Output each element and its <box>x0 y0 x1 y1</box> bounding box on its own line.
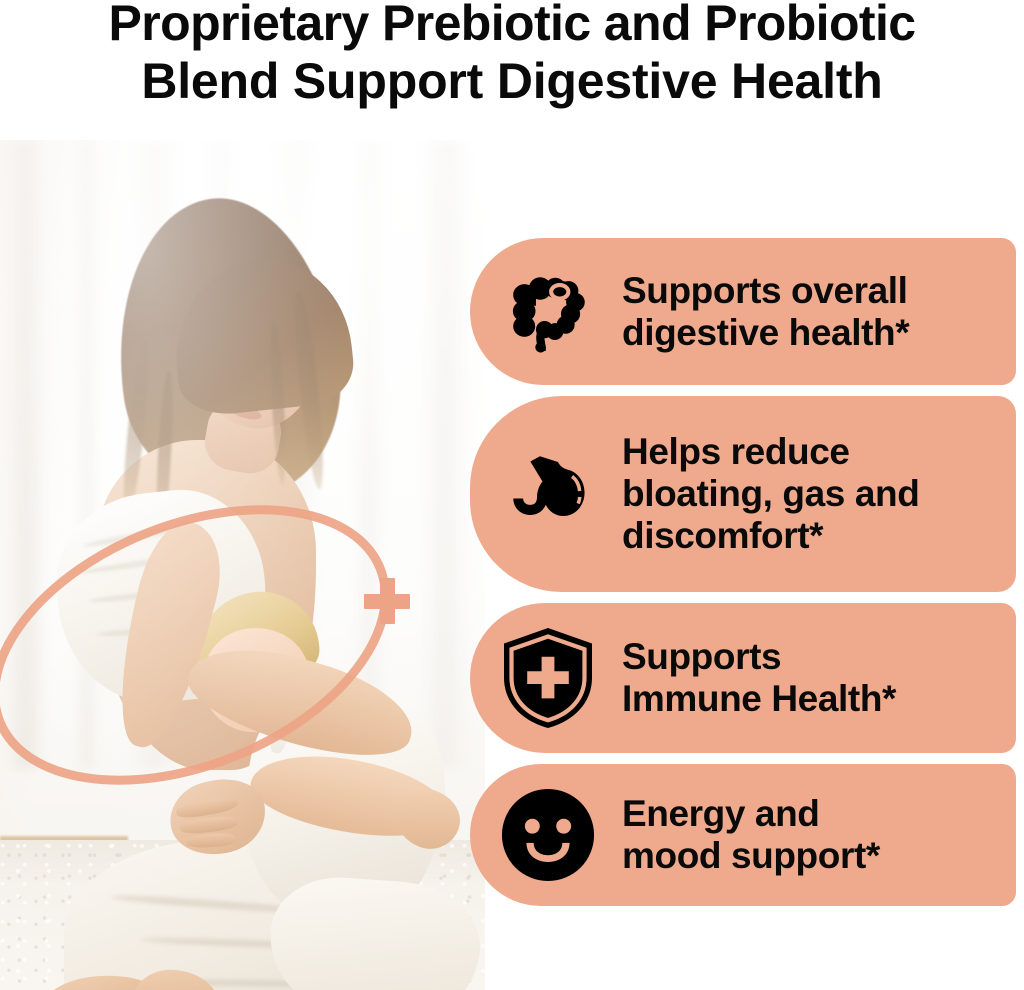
lifestyle-photo <box>0 140 485 990</box>
benefit-line-1: Helps reduce <box>622 431 850 472</box>
benefit-text-digestive: Supports overall digestive health* <box>600 270 1000 354</box>
product-infographic: Proprietary Prebiotic and Probiotic Blen… <box>0 0 1024 990</box>
benefit-line-1: Energy and <box>622 793 820 834</box>
benefit-card-immune[interactable]: Supports Immune Health* <box>470 603 1016 753</box>
intestine-icon <box>496 260 600 364</box>
benefit-line-1: Supports overall <box>622 270 908 311</box>
plus-sign-decoration <box>364 578 410 624</box>
plus-vertical-bar <box>380 578 395 624</box>
shield-plus-icon <box>496 626 600 730</box>
page-title: Proprietary Prebiotic and Probiotic Blen… <box>0 0 1024 110</box>
headline-line-2: Blend Support Digestive Health <box>0 52 1024 110</box>
benefit-card-digestive[interactable]: Supports overall digestive health* <box>470 238 1016 385</box>
benefit-line-2: Immune Health* <box>622 678 896 719</box>
benefit-text-mood: Energy and mood support* <box>600 793 1000 877</box>
benefit-card-bloating[interactable]: Helps reduce bloating, gas and discomfor… <box>470 396 1016 592</box>
benefit-line-2: mood support* <box>622 835 880 876</box>
benefits-list: Supports overall digestive health* Helps… <box>470 238 1016 917</box>
smiley-face-icon <box>496 783 600 887</box>
benefit-text-immune: Supports Immune Health* <box>600 636 1000 720</box>
benefit-text-bloating: Helps reduce bloating, gas and discomfor… <box>600 431 1000 556</box>
benefit-line-2: bloating, gas and <box>622 473 919 514</box>
stomach-icon <box>496 442 600 546</box>
headline-line-1: Proprietary Prebiotic and Probiotic <box>0 0 1024 52</box>
benefit-card-mood[interactable]: Energy and mood support* <box>470 764 1016 906</box>
benefit-line-3: discomfort* <box>622 515 823 556</box>
benefit-line-2: digestive health* <box>622 312 909 353</box>
curtain-fold <box>6 140 46 769</box>
benefit-line-1: Supports <box>622 636 781 677</box>
